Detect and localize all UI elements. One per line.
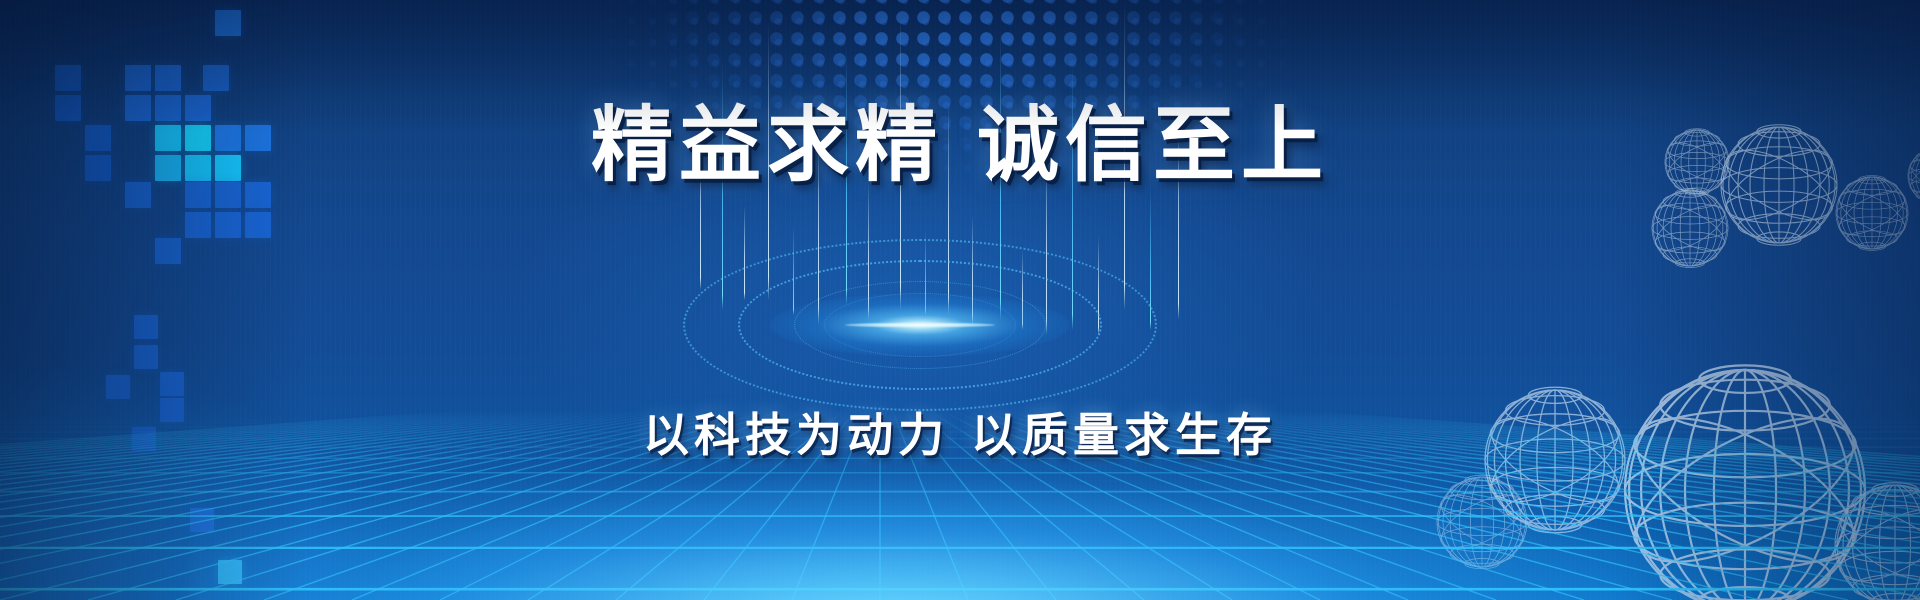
wireframe-globe-icon bbox=[1650, 188, 1730, 268]
pixel-block bbox=[155, 65, 181, 91]
hero-banner: 精益求精诚信至上 以科技为动力以质量求生存 bbox=[0, 0, 1920, 600]
glowing-orb-graphic bbox=[660, 225, 1180, 425]
pixel-block bbox=[215, 212, 241, 238]
page-title: 精益求精诚信至上 bbox=[0, 104, 1920, 186]
grid-floor-glow bbox=[192, 460, 1728, 600]
subtitle-part-2: 以质量求生存 bbox=[971, 408, 1277, 462]
pixel-block bbox=[125, 65, 151, 91]
headline-part-2: 诚信至上 bbox=[977, 97, 1329, 193]
headline-part-1: 精益求精 bbox=[591, 97, 943, 193]
subtitle-part-1: 以科技为动力 bbox=[643, 408, 949, 462]
orb-core-glow-icon bbox=[770, 293, 1070, 357]
pixel-block bbox=[55, 65, 81, 91]
pixel-block bbox=[215, 10, 241, 36]
page-subtitle: 以科技为动力以质量求生存 bbox=[0, 412, 1920, 458]
pixel-block bbox=[134, 315, 158, 339]
pixel-block bbox=[134, 345, 158, 369]
pixel-block bbox=[106, 375, 130, 399]
pixel-block bbox=[160, 372, 184, 396]
pixel-block bbox=[155, 238, 181, 264]
pixel-block bbox=[245, 212, 271, 238]
pixel-block bbox=[203, 65, 229, 91]
wireframe-globe-icon bbox=[1834, 175, 1910, 251]
pixel-block bbox=[185, 212, 211, 238]
